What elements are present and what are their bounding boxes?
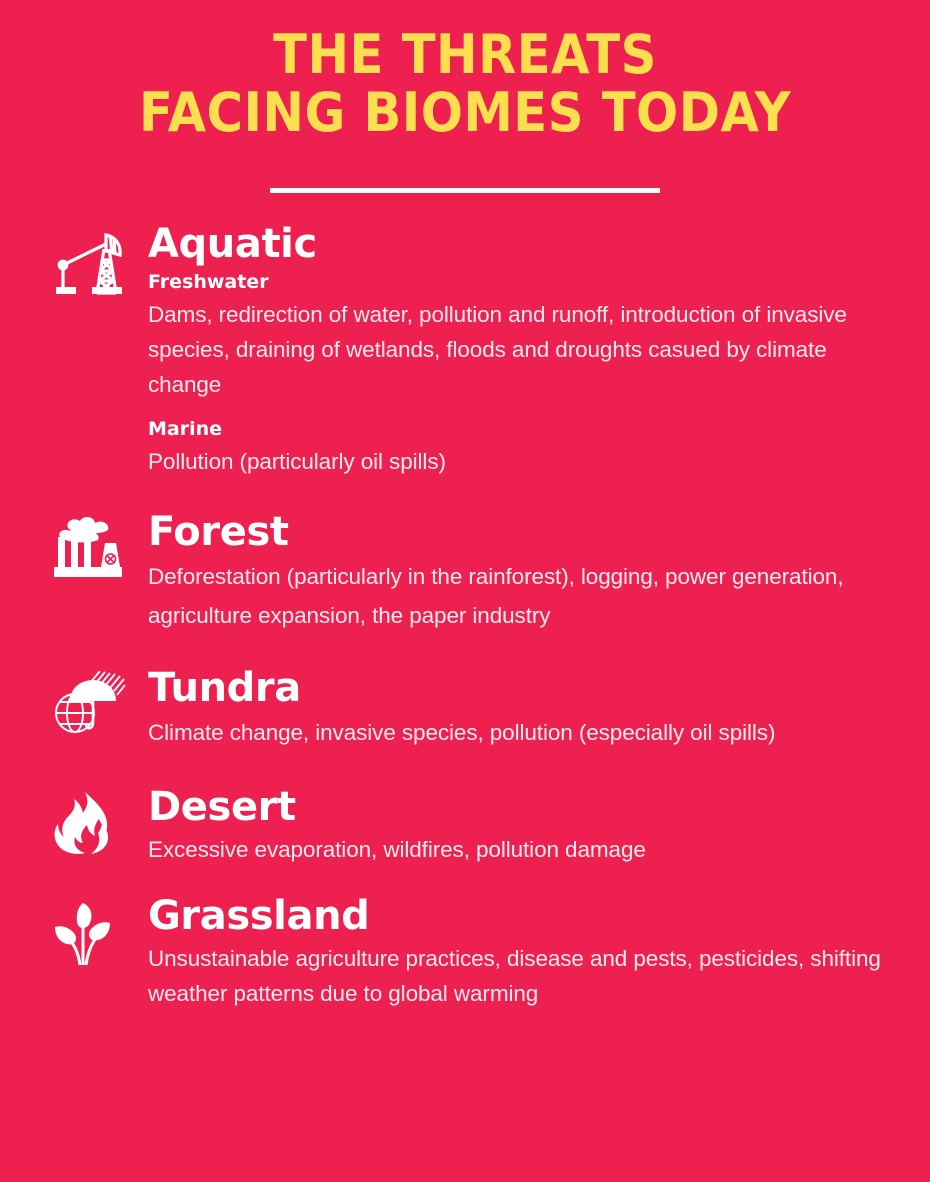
poster-title-block: THE THREATS FACING BIOMES TODAY (0, 0, 930, 193)
derrick-base-left (56, 287, 76, 294)
globe-umbrella-rain-icon (52, 671, 126, 739)
section-grassland: Grassland Unsustainable agriculture prac… (0, 893, 930, 1011)
sprout-leaves-icon (52, 899, 114, 969)
flame-icon (52, 790, 114, 856)
section-aquatic: Aquatic Freshwater Dams, redirection of … (0, 221, 930, 479)
text-col-forest: Forest Deforestation (particularly in th… (148, 509, 890, 635)
text-col-grassland: Grassland Unsustainable agriculture prac… (148, 893, 890, 1011)
section-desert: Desert Excessive evaporation, wildfires,… (0, 784, 930, 867)
body-desert: Excessive evaporation, wildfires, pollut… (148, 832, 890, 867)
infographic-poster: THE THREATS FACING BIOMES TODAY (0, 0, 930, 1182)
title-divider-wrap (0, 188, 930, 193)
poster-title-line-2: FACING BIOMES TODAY (37, 84, 893, 142)
body-aquatic-marine: Pollution (particularly oil spills) (148, 444, 890, 479)
text-col-desert: Desert Excessive evaporation, wildfires,… (148, 784, 890, 867)
section-heading-desert: Desert (148, 784, 890, 830)
section-heading-aquatic: Aquatic (148, 221, 890, 267)
icon-col-tundra (52, 665, 148, 739)
body-aquatic-freshwater: Dams, redirection of water, pollution an… (148, 297, 890, 402)
section-tundra: Tundra Climate change, invasive species,… (0, 665, 930, 752)
text-col-tundra: Tundra Climate change, invasive species,… (148, 665, 890, 752)
icon-col-grassland (52, 893, 148, 969)
text-col-aquatic: Aquatic Freshwater Dams, redirection of … (148, 221, 890, 479)
biome-sections: Aquatic Freshwater Dams, redirection of … (0, 221, 930, 1011)
icon-col-forest (52, 509, 148, 581)
body-grassland: Unsustainable agriculture practices, dis… (148, 941, 890, 1011)
subheading-marine: Marine (148, 416, 890, 442)
section-heading-forest: Forest (148, 509, 890, 555)
factory-smokestacks-icon (52, 515, 126, 581)
oil-derrick-icon (52, 227, 126, 301)
derrick-base-right (92, 287, 122, 294)
body-forest: Deforestation (particularly in the rainf… (148, 557, 890, 635)
section-heading-grassland: Grassland (148, 893, 890, 939)
section-heading-tundra: Tundra (148, 665, 890, 711)
title-divider-rule (270, 188, 660, 193)
body-tundra: Climate change, invasive species, pollut… (148, 713, 890, 752)
icon-col-desert (52, 784, 148, 856)
spacer-aquatic (148, 402, 890, 414)
poster-title-line-1: THE THREATS (37, 26, 893, 84)
subheading-freshwater: Freshwater (148, 269, 890, 295)
derrick-counterweight (58, 260, 69, 271)
section-forest: Forest Deforestation (particularly in th… (0, 509, 930, 635)
icon-col-aquatic (52, 221, 148, 301)
